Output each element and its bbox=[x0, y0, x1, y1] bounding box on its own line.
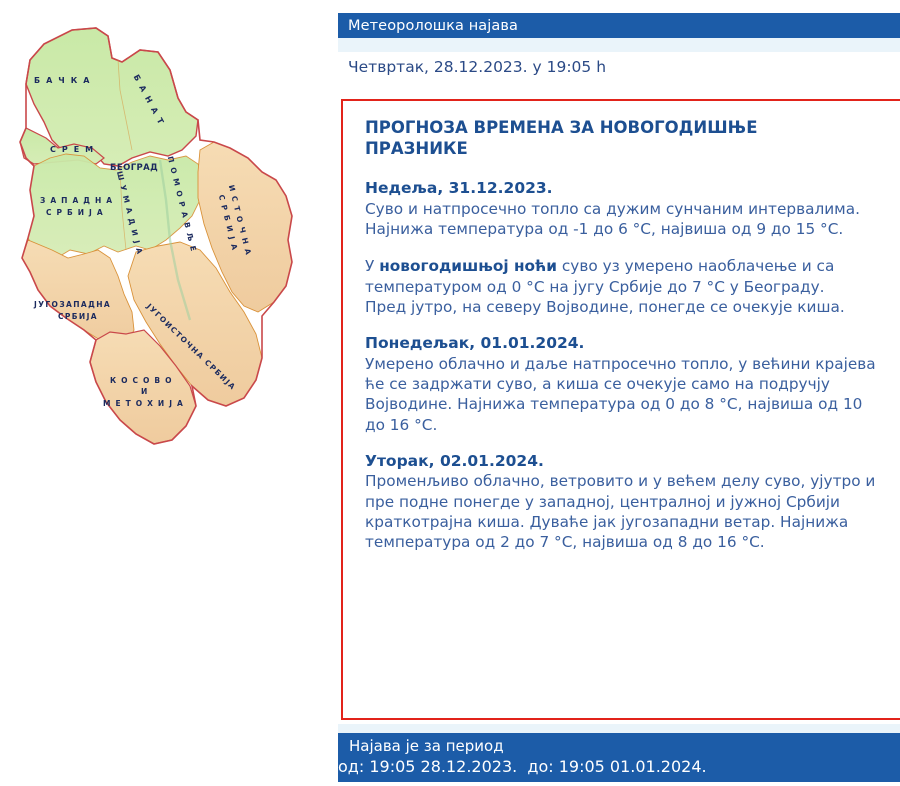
map-label-metohija: М Е Т О Х И Ј А bbox=[103, 399, 184, 408]
forecast-titlebar: Метеоролошка најава bbox=[338, 13, 900, 38]
forecast-day-title: Недеља, 31.12.2023. bbox=[365, 179, 885, 198]
map-label-kosovo: К О С О В О bbox=[110, 376, 173, 385]
forecast-day-text: Суво и натпросечно топло са дужим сунчан… bbox=[365, 199, 877, 240]
map-label-jugozapadna-srbija-2: СРБИЈА bbox=[58, 312, 98, 321]
forecast-day-title: Понедељак, 01.01.2024. bbox=[365, 334, 885, 353]
footer-underline bbox=[338, 724, 900, 733]
map-label-backa: Б А Ч К А bbox=[34, 76, 91, 85]
forecast-day-title: Уторак, 02.01.2024. bbox=[365, 452, 885, 471]
forecast-day-text: Променљиво облачно, ветровито и у већем … bbox=[365, 471, 877, 552]
map-label-jugozapadna-srbija-1: ЈУГОЗАПАДНА bbox=[33, 300, 111, 309]
newyear-text-before: У bbox=[365, 257, 379, 275]
newyear-text-bold: новогодишњој ноћи bbox=[379, 257, 557, 275]
forecast-newyear-night-text: У новогодишњој ноћи суво уз умерено наоб… bbox=[365, 256, 877, 297]
map-label-srem: С Р Е М bbox=[50, 145, 95, 154]
forecast-day-block: Недеља, 31.12.2023. Суво и натпросечно т… bbox=[365, 179, 885, 239]
map-label-kosovo-i: И bbox=[141, 387, 148, 396]
validity-period-range: од: 19:05 28.12.2023. до: 19:05 01.01.20… bbox=[338, 757, 707, 776]
forecast-day-block: Уторак, 02.01.2024. Променљиво облачно, … bbox=[365, 452, 885, 553]
forecast-newyear-night-block: У новогодишњој ноћи суво уз умерено наоб… bbox=[365, 256, 885, 317]
weather-forecast-page: Б А Ч К А Б А Н А Т С Р Е М БЕОГРАД З А … bbox=[0, 0, 900, 786]
forecast-newyear-night-text-line2: Пред јутро, на северу Војводине, понегде… bbox=[365, 297, 877, 317]
map-label-zapadna-srbija-1: З А П А Д Н А bbox=[40, 196, 113, 205]
serbia-map-panel: Б А Ч К А Б А Н А Т С Р Е М БЕОГРАД З А … bbox=[0, 0, 330, 786]
validity-period-footer: Најава је за период од: 19:05 28.12.2023… bbox=[338, 733, 900, 782]
validity-period-label: Најава је за период bbox=[349, 737, 504, 755]
forecast-day-text: Умерено облачно и даље натпросечно топло… bbox=[365, 354, 877, 435]
page-title: Метеоролошка најава bbox=[338, 18, 518, 34]
forecast-content-panel: Метеоролошка најава Четвртак, 28.12.2023… bbox=[330, 0, 900, 786]
serbia-map-image: Б А Ч К А Б А Н А Т С Р Е М БЕОГРАД З А … bbox=[0, 0, 330, 500]
issued-timestamp: Четвртак, 28.12.2023. у 19:05 h bbox=[348, 58, 606, 76]
forecast-day-block: Понедељак, 01.01.2024. Умерено облачно и… bbox=[365, 334, 885, 435]
titlebar-underline bbox=[338, 38, 900, 52]
forecast-headline: ПРОГНОЗА ВРЕМЕНА ЗА НОВОГОДИШЊЕ ПРАЗНИКЕ bbox=[365, 117, 835, 159]
map-label-zapadna-srbija-2: С Р Б И Ј А bbox=[46, 208, 104, 217]
forecast-alert-box: ПРОГНОЗА ВРЕМЕНА ЗА НОВОГОДИШЊЕ ПРАЗНИКЕ… bbox=[341, 99, 900, 720]
